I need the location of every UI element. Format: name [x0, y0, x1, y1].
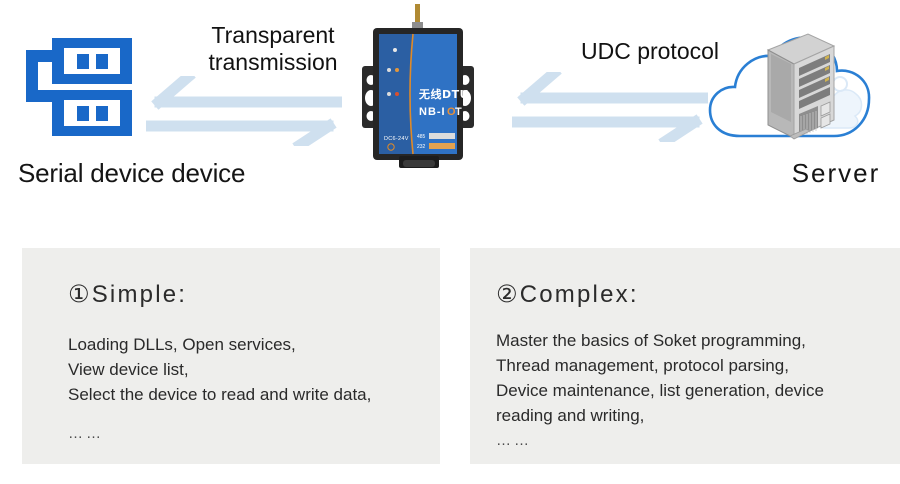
svg-text:无线DTU: 无线DTU: [418, 87, 469, 101]
panel-complex-ellipsis: ……: [496, 428, 888, 453]
transparent-transmission-caption: Transparent transmission: [183, 22, 363, 76]
network-topology-diagram: Serial device device Transparent transmi…: [0, 0, 900, 232]
panel-complex-body: Master the basics of Soket programming, …: [496, 328, 888, 453]
svg-text:232: 232: [417, 144, 426, 150]
panel-simple-title: Simple:: [92, 281, 187, 308]
transparent-caption-line-1: Transparent: [183, 22, 363, 49]
panel-complex-line-1: Master the basics of Soket programming,: [496, 328, 888, 353]
svg-text:NB-I: NB-I: [419, 106, 446, 118]
panel-simple: ①Simple: Loading DLLs, Open services, Vi…: [22, 248, 440, 464]
panel-simple-heading: ①Simple:: [68, 280, 187, 309]
panel-simple-line-2: View device list,: [68, 357, 428, 382]
server-stack-icon: [24, 32, 140, 144]
bidirectional-arrow-right: [512, 72, 708, 142]
panel-complex-line-4: reading and writing,: [496, 403, 888, 428]
transparent-caption-line-2: transmission: [183, 49, 363, 76]
serial-device-label: Serial device device: [18, 158, 318, 189]
panel-simple-ellipsis: ……: [68, 421, 428, 446]
dtu-device-photo: 无线DTU NB-I O T DC6-24V 485 232: [355, 4, 483, 172]
cloud-server-icon: [706, 24, 886, 150]
panel-complex-heading: ②Complex:: [496, 280, 639, 309]
svg-text:485: 485: [417, 134, 426, 140]
panel-complex-marker: ②: [496, 281, 520, 308]
svg-text:T: T: [455, 106, 463, 118]
server-label: Server: [756, 158, 900, 189]
panel-simple-marker: ①: [68, 281, 92, 308]
panel-simple-body: Loading DLLs, Open services, View device…: [68, 332, 428, 446]
panel-simple-line-1: Loading DLLs, Open services,: [68, 332, 428, 357]
panel-complex-line-3: Device maintenance, list generation, dev…: [496, 378, 888, 403]
panel-simple-line-3: Select the device to read and write data…: [68, 382, 428, 407]
panel-complex-line-2: Thread management, protocol parsing,: [496, 353, 888, 378]
panel-complex: ②Complex: Master the basics of Soket pro…: [470, 248, 900, 464]
svg-text:DC6-24V: DC6-24V: [384, 136, 409, 142]
bidirectional-arrow-left: [146, 76, 342, 146]
panel-complex-title: Complex:: [520, 281, 639, 308]
